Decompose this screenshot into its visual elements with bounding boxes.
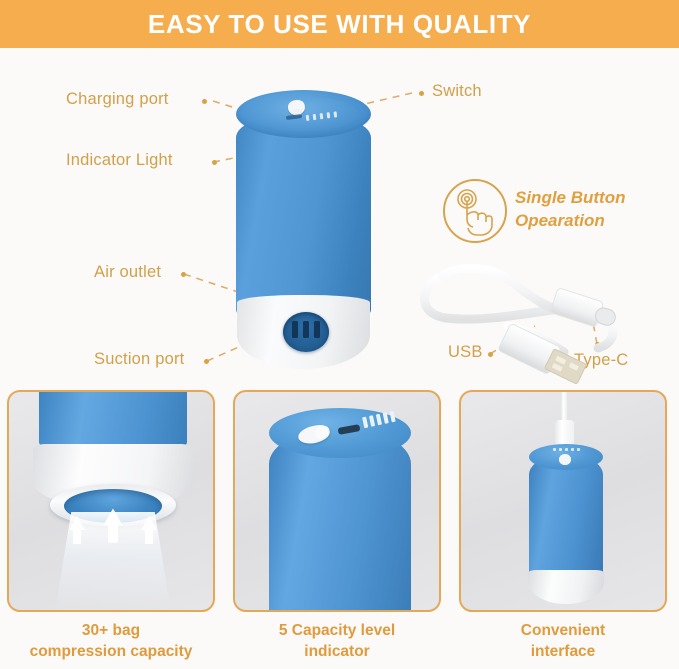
device-top-cap [236, 90, 371, 138]
callout-charging-port: Charging port [66, 90, 169, 109]
tap-hand-icon [443, 179, 507, 243]
callout-suction-port: Suction port [94, 350, 184, 369]
panel-interface[interactable] [459, 390, 667, 612]
callout-indicator-light: Indicator Light [66, 151, 173, 170]
panel3-cable-wire [561, 390, 567, 424]
airflow-arrow-icon [103, 508, 123, 525]
panel3-device-body [529, 454, 603, 584]
air-outlet-port [283, 312, 329, 352]
hero-section: Charging port Indicator Light Air outlet… [0, 48, 679, 386]
callout-air-outlet: Air outlet [94, 263, 161, 282]
panel3-caption-line1: Convenient [459, 620, 667, 641]
infographic-root: EASY TO USE WITH QUALITY [0, 0, 679, 669]
panel2-caption-line2: indicator [233, 641, 441, 662]
page-title: EASY TO USE WITH QUALITY [148, 9, 531, 40]
type-c-connector [550, 288, 619, 333]
panel-capacity[interactable] [233, 390, 441, 612]
sbo-line2: Opearation [515, 209, 665, 232]
feature-panels: 30+ bag compression capacity 5 Capacity … [0, 390, 679, 669]
panel1-caption-line1: 30+ bag [7, 620, 215, 641]
header-banner: EASY TO USE WITH QUALITY [0, 0, 679, 48]
callout-switch: Switch [432, 82, 482, 101]
panel3-indicator-leds [553, 448, 579, 452]
main-device-image [236, 90, 371, 380]
callout-dot-suction-port [204, 359, 209, 364]
single-button-operation-text: Single Button Opearation [515, 186, 665, 232]
panel1-caption: 30+ bag compression capacity [7, 620, 215, 662]
device-top-inner [249, 96, 358, 131]
callout-dot-air-outlet [181, 272, 186, 277]
panel2-caption-line1: 5 Capacity level [233, 620, 441, 641]
panel3-device-base [528, 570, 604, 604]
panel1-caption-line2: compression capacity [7, 641, 215, 662]
usb-cable-image [412, 248, 662, 398]
panel-suction[interactable] [7, 390, 215, 612]
sbo-line1: Single Button [515, 186, 665, 209]
panel3-power-switch [559, 454, 571, 465]
usb-a-connector [498, 323, 588, 388]
airflow-arrow-icon [141, 516, 157, 530]
panel3-caption-line2: interface [459, 641, 667, 662]
airflow-arrow-icon [69, 516, 85, 530]
callout-dot-charging-port [202, 99, 207, 104]
callout-dot-switch [419, 91, 424, 96]
panel3-caption: Convenient interface [459, 620, 667, 662]
callout-dot-indicator-light [212, 160, 217, 165]
panel2-caption: 5 Capacity level indicator [233, 620, 441, 662]
